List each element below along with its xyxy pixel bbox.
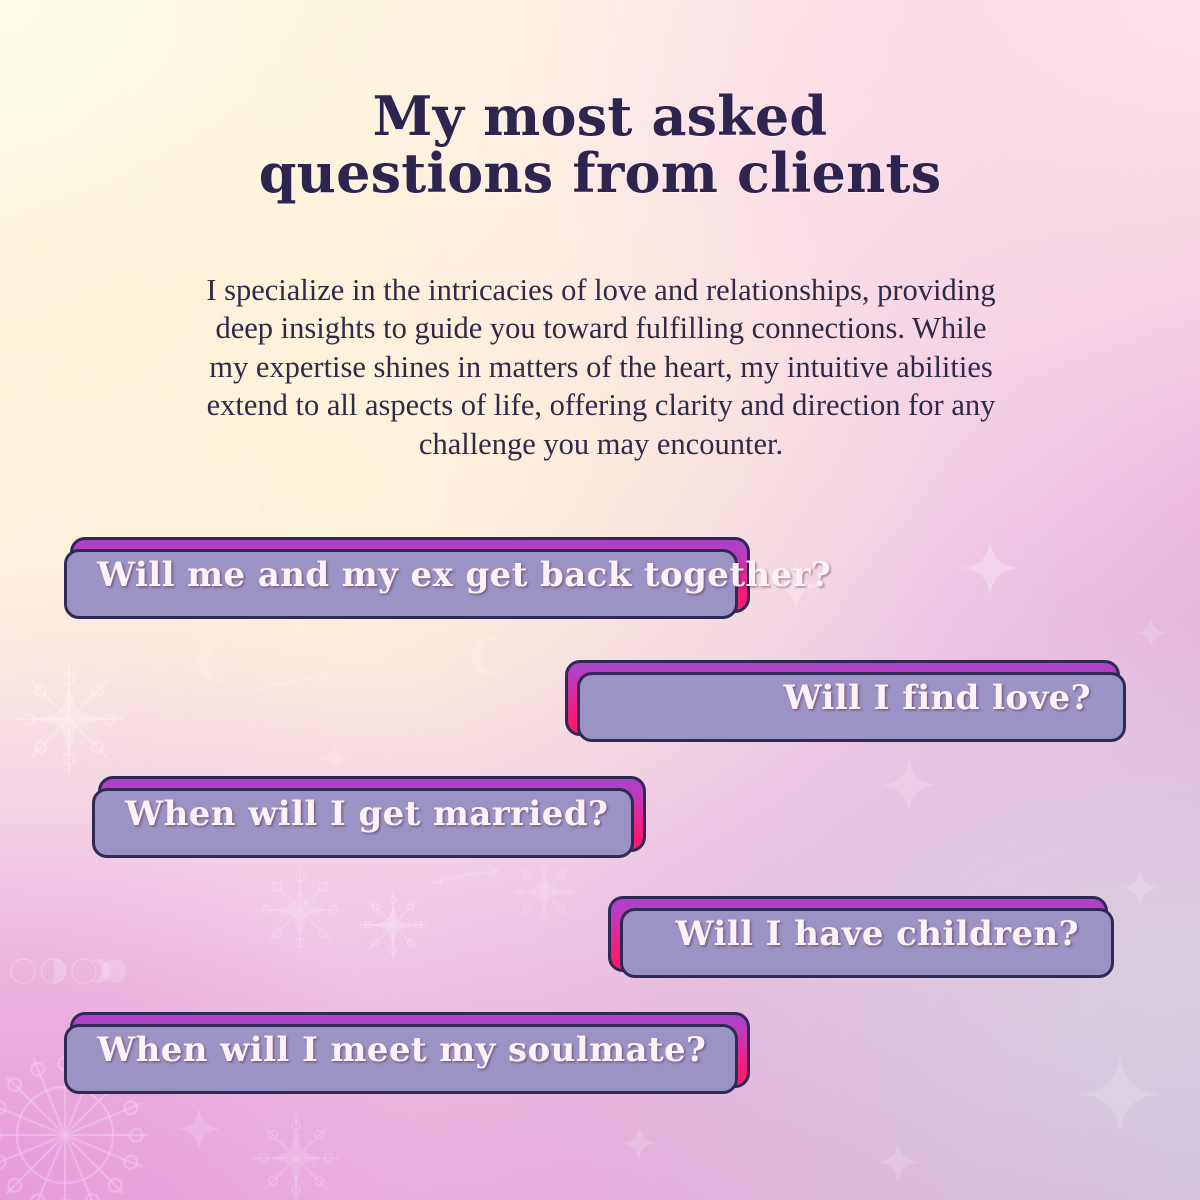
question-banner-label: When will I meet my soulmate? — [73, 1030, 747, 1070]
question-banner-4[interactable]: Will I have children? — [608, 896, 1108, 972]
shooting-star-icon — [424, 856, 510, 908]
question-banner-label: Will I have children? — [611, 914, 1105, 954]
question-banner-label: Will me and my ex get back together? — [73, 555, 747, 595]
crescent-moon-icon — [470, 636, 510, 676]
question-banner-2[interactable]: Will I find love? — [565, 660, 1120, 736]
question-banner-1[interactable]: Will me and my ex get back together? — [70, 537, 750, 613]
crescent-moon-icon — [196, 640, 240, 684]
sparkle-four-point-icon — [1134, 616, 1168, 650]
sparkle-four-point-icon — [960, 538, 1020, 598]
starburst-snowflake-icon — [248, 1110, 344, 1200]
sparkle-four-point-icon — [176, 1106, 222, 1152]
sparkle-four-point-icon — [620, 1124, 658, 1162]
sparkle-four-point-icon — [1078, 1052, 1162, 1136]
moon-phase-row-icon — [6, 952, 134, 990]
question-banner-5[interactable]: When will I meet my soulmate? — [70, 1012, 750, 1088]
shooting-star-icon — [244, 660, 340, 718]
starburst-snowflake-icon — [10, 660, 128, 778]
poster-canvas: My most askedquestions from clients I sp… — [0, 0, 1200, 1200]
page-title-line-1: My most asked — [0, 88, 1200, 145]
question-banner-label: When will I get married? — [101, 794, 643, 834]
sparkle-four-point-icon — [318, 742, 352, 776]
page-title: My most askedquestions from clients — [0, 88, 1200, 201]
starburst-snowflake-icon — [252, 862, 348, 958]
starburst-snowflake-icon — [508, 856, 580, 928]
page-title-line-2: questions from clients — [0, 145, 1200, 202]
question-banner-3[interactable]: When will I get married? — [98, 776, 646, 852]
intro-paragraph: I specialize in the intricacies of love … — [198, 271, 1004, 464]
question-banner-label: Will I find love? — [568, 678, 1117, 718]
sparkle-four-point-icon — [1120, 868, 1160, 908]
sparkle-four-point-icon — [242, 486, 272, 516]
sparkle-four-point-icon — [880, 756, 938, 814]
sparkle-four-point-icon — [876, 1140, 920, 1184]
starburst-snowflake-icon — [356, 888, 430, 962]
